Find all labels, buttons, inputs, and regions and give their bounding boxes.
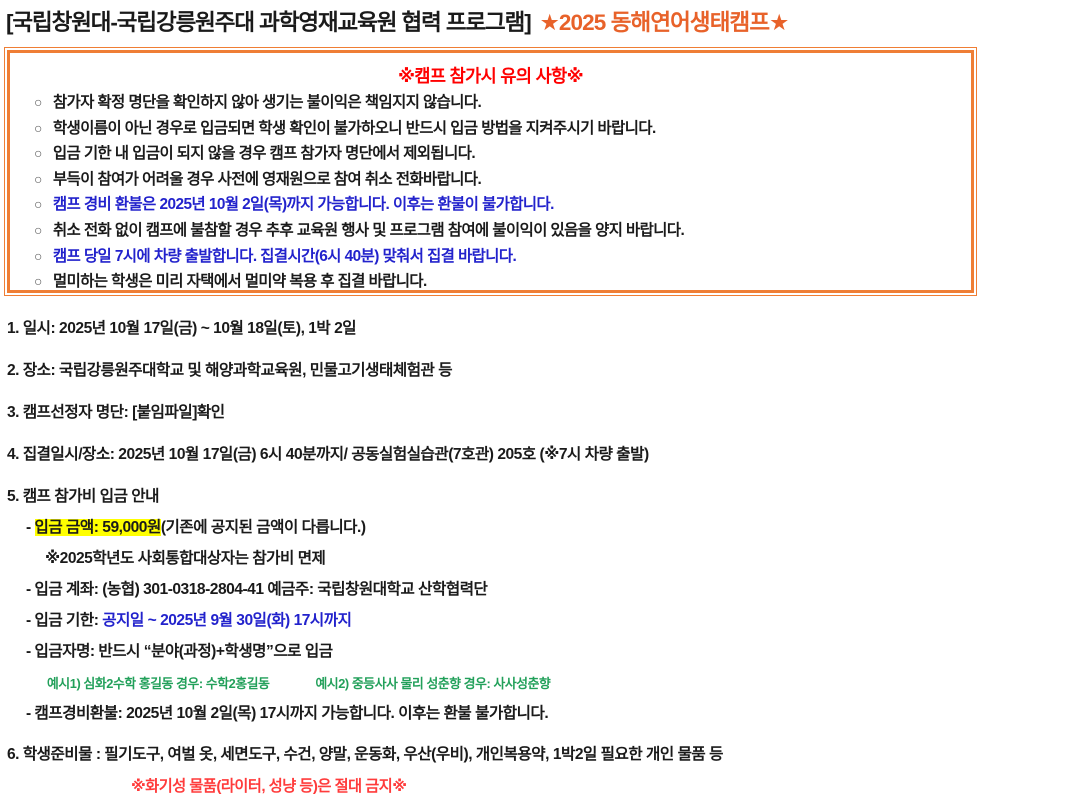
notice-item: ○ 부득이 참여가 어려울 경우 사전에 영재원으로 참여 취소 전화바랍니다. [34,167,971,193]
payment-exemption-note: ※2025학년도 사회통합대상자는 참가비 면제 [7,548,1063,570]
detail-item-date: 1. 일시: 2025년 10월 17일(금) ~ 10월 18일(토), 1박… [7,318,1063,340]
notice-item: ○ 학생이름이 아닌 경우로 입금되면 학생 확인이 불가하오니 반드시 입금 … [34,116,971,142]
circle-bullet-icon: ○ [34,90,53,116]
payment-refund-line: - 캠프경비환불: 2025년 10월 2일(목) 17시까지 가능합니다. 이… [7,703,1063,725]
detail-item-payment-heading: 5. 캠프 참가비 입금 안내 [7,486,1063,508]
notice-item: ○ 참가자 확정 명단을 확인하지 않아 생기는 불이익은 책임지지 않습니다. [34,90,971,116]
notice-item-text: 캠프 당일 7시에 차량 출발합니다. 집결시간(6시 40분) 맞춰서 집결 … [53,244,516,270]
payment-account-line: - 입금 계좌: (농협) 301-0318-2804-41 예금주: 국립창원… [7,579,1063,601]
payment-depositor-rule: - 입금자명: 반드시 “분야(과정)+학생명”으로 입금 [7,641,1063,663]
supplies-warning: ※화기성 물품(라이터, 성냥 등)은 절대 금지※ [7,776,1063,798]
notice-item-text: 학생이름이 아닌 경우로 입금되면 학생 확인이 불가하오니 반드시 입금 방법… [53,116,656,142]
notice-item: ○ 멀미하는 학생은 미리 자택에서 멀미약 복용 후 집결 바랍니다. [34,269,971,295]
circle-bullet-icon: ○ [34,269,53,295]
detail-item-assembly: 4. 집결일시/장소: 2025년 10월 17일(금) 6시 40분까지/ 공… [7,444,1063,466]
notice-item-text: 멀미하는 학생은 미리 자택에서 멀미약 복용 후 집결 바랍니다. [53,269,427,295]
notice-item-text: 캠프 경비 환불은 2025년 10월 2일(목)까지 가능합니다. 이후는 환… [53,192,554,218]
payment-examples: 예시1) 심화2수학 홍길동 경우: 수학2홍길동예시2) 중등사사 물리 성춘… [7,673,1063,692]
payment-amount-highlight: 입금 금액: 59,000원 [35,519,161,536]
notice-box: ※캠프 참가시 유의 사항※ ○ 참가자 확정 명단을 확인하지 않아 생기는 … [7,50,974,293]
notice-item: ○ 캠프 당일 7시에 차량 출발합니다. 집결시간(6시 40분) 맞춰서 집… [34,244,971,270]
title-accent-text: ★2025 동해연어생태캠프★ [540,5,789,37]
notice-item: ○ 취소 전화 없이 캠프에 불참할 경우 추후 교육원 행사 및 프로그램 참… [34,218,971,244]
notice-item-text: 참가자 확정 명단을 확인하지 않아 생기는 불이익은 책임지지 않습니다. [53,90,481,116]
payment-example-2: 예시2) 중등사사 물리 성춘향 경우: 사사성춘향 [315,676,550,691]
circle-bullet-icon: ○ [34,192,53,218]
payment-amount-suffix: (기존에 공지된 금액이 다릅니다.) [161,519,366,536]
notice-item-text: 부득이 참여가 어려울 경우 사전에 영재원으로 참여 취소 전화바랍니다. [53,167,481,193]
detail-item-supplies: 6. 학생준비물 : 필기도구, 여벌 옷, 세면도구, 수건, 양말, 운동화… [7,744,1063,766]
circle-bullet-icon: ○ [34,167,53,193]
circle-bullet-icon: ○ [34,141,53,167]
details-section: 1. 일시: 2025년 10월 17일(금) ~ 10월 18일(토), 1박… [7,318,1063,798]
page-title: [국립창원대-국립강릉원주대 과학영재교육원 협력 프로그램] ★2025 동해… [6,6,1064,36]
circle-bullet-icon: ○ [34,244,53,270]
payment-deadline-label: - 입금 기한: [26,612,102,629]
payment-deadline-line: - 입금 기한: 공지일 ~ 2025년 9월 30일(화) 17시까지 [7,610,1063,632]
payment-amount-line: - 입금 금액: 59,000원(기존에 공지된 금액이 다릅니다.) [7,517,1063,539]
notice-item-text: 취소 전화 없이 캠프에 불참할 경우 추후 교육원 행사 및 프로그램 참여에… [53,218,684,244]
payment-example-1: 예시1) 심화2수학 홍길동 경우: 수학2홍길동 [47,676,269,691]
detail-item-roster: 3. 캠프선정자 명단: [붙임파일]확인 [7,402,1063,424]
payment-amount-prefix: - [26,519,35,536]
circle-bullet-icon: ○ [34,116,53,142]
notice-item: ○ 입금 기한 내 입금이 되지 않을 경우 캠프 참가자 명단에서 제외됩니다… [34,141,971,167]
payment-deadline-value: 공지일 ~ 2025년 9월 30일(화) 17시까지 [102,612,351,629]
notice-item-text: 입금 기한 내 입금이 되지 않을 경우 캠프 참가자 명단에서 제외됩니다. [53,141,475,167]
title-main-text: [국립창원대-국립강릉원주대 과학영재교육원 협력 프로그램] [6,5,531,37]
circle-bullet-icon: ○ [34,218,53,244]
notice-list: ○ 참가자 확정 명단을 확인하지 않아 생기는 불이익은 책임지지 않습니다.… [10,90,971,295]
notice-item: ○ 캠프 경비 환불은 2025년 10월 2일(목)까지 가능합니다. 이후는… [34,192,971,218]
notice-heading: ※캠프 참가시 유의 사항※ [10,63,971,88]
detail-item-location: 2. 장소: 국립강릉원주대학교 및 해양과학교육원, 민물고기생태체험관 등 [7,360,1063,382]
